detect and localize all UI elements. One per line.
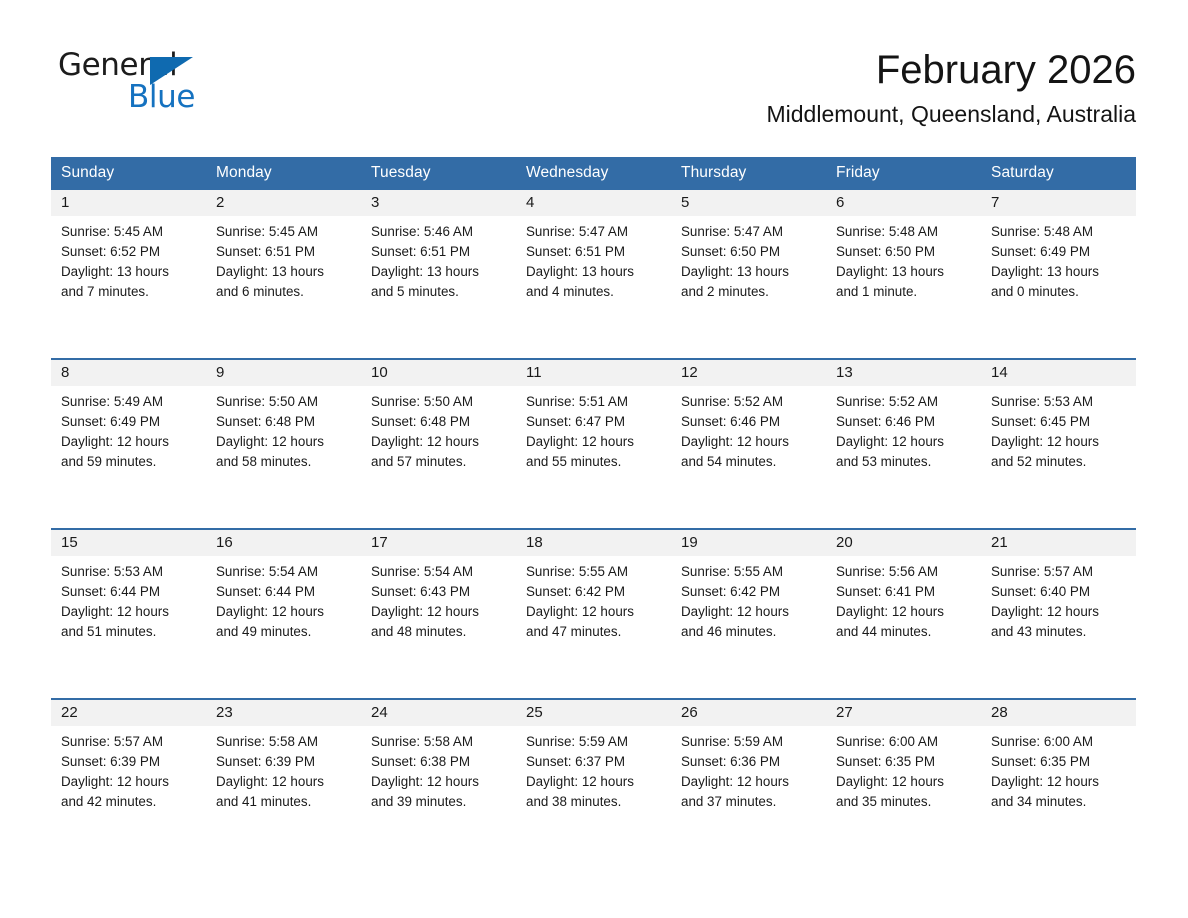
day-number: 23: [206, 700, 361, 726]
daylight-text-line1: Daylight: 12 hours: [836, 602, 973, 622]
day-number: 17: [361, 530, 516, 556]
day-details: Sunrise: 5:47 AM Sunset: 6:51 PM Dayligh…: [516, 216, 671, 358]
daylight-text-line2: and 35 minutes.: [836, 792, 973, 812]
daylight-text-line1: Daylight: 12 hours: [216, 772, 353, 792]
sunrise-text: Sunrise: 5:48 AM: [991, 222, 1128, 242]
day-cell[interactable]: 21 Sunrise: 5:57 AM Sunset: 6:40 PM Dayl…: [981, 529, 1136, 699]
sunset-text: Sunset: 6:39 PM: [61, 752, 198, 772]
day-number: 2: [206, 190, 361, 216]
sunrise-text: Sunrise: 5:51 AM: [526, 392, 663, 412]
sunset-text: Sunset: 6:48 PM: [216, 412, 353, 432]
daylight-text-line1: Daylight: 12 hours: [991, 432, 1128, 452]
sunset-text: Sunset: 6:44 PM: [61, 582, 198, 602]
calendar-body: 1 Sunrise: 5:45 AM Sunset: 6:52 PM Dayli…: [51, 190, 1136, 868]
daylight-text-line2: and 42 minutes.: [61, 792, 198, 812]
day-cell[interactable]: 19 Sunrise: 5:55 AM Sunset: 6:42 PM Dayl…: [671, 529, 826, 699]
day-number: 14: [981, 360, 1136, 386]
sunset-text: Sunset: 6:43 PM: [371, 582, 508, 602]
day-details: Sunrise: 5:49 AM Sunset: 6:49 PM Dayligh…: [51, 386, 206, 528]
day-cell[interactable]: 7 Sunrise: 5:48 AM Sunset: 6:49 PM Dayli…: [981, 190, 1136, 359]
day-cell[interactable]: 24 Sunrise: 5:58 AM Sunset: 6:38 PM Dayl…: [361, 699, 516, 868]
sunrise-text: Sunrise: 5:55 AM: [681, 562, 818, 582]
daylight-text-line1: Daylight: 12 hours: [61, 432, 198, 452]
daylight-text-line2: and 34 minutes.: [991, 792, 1128, 812]
daylight-text-line1: Daylight: 12 hours: [836, 772, 973, 792]
calendar-week-row: 15 Sunrise: 5:53 AM Sunset: 6:44 PM Dayl…: [51, 529, 1136, 699]
sunrise-text: Sunrise: 5:53 AM: [61, 562, 198, 582]
day-number: 25: [516, 700, 671, 726]
sunrise-text: Sunrise: 5:52 AM: [681, 392, 818, 412]
day-number: 19: [671, 530, 826, 556]
day-cell[interactable]: 27 Sunrise: 6:00 AM Sunset: 6:35 PM Dayl…: [826, 699, 981, 868]
day-details: Sunrise: 5:59 AM Sunset: 6:36 PM Dayligh…: [671, 726, 826, 868]
day-number: 3: [361, 190, 516, 216]
calendar-week-row: 22 Sunrise: 5:57 AM Sunset: 6:39 PM Dayl…: [51, 699, 1136, 868]
day-number: 24: [361, 700, 516, 726]
title-block: February 2026 Middlemount, Queensland, A…: [767, 48, 1137, 128]
sunset-text: Sunset: 6:42 PM: [681, 582, 818, 602]
day-cell[interactable]: 1 Sunrise: 5:45 AM Sunset: 6:52 PM Dayli…: [51, 190, 206, 359]
daylight-text-line2: and 57 minutes.: [371, 452, 508, 472]
sunrise-text: Sunrise: 5:57 AM: [61, 732, 198, 752]
daylight-text-line2: and 7 minutes.: [61, 282, 198, 302]
day-cell[interactable]: 17 Sunrise: 5:54 AM Sunset: 6:43 PM Dayl…: [361, 529, 516, 699]
daylight-text-line2: and 53 minutes.: [836, 452, 973, 472]
page-header: General Blue February 2026 Middlemount, …: [0, 0, 1188, 110]
sunset-text: Sunset: 6:47 PM: [526, 412, 663, 432]
daylight-text-line2: and 37 minutes.: [681, 792, 818, 812]
daylight-text-line2: and 2 minutes.: [681, 282, 818, 302]
day-cell[interactable]: 16 Sunrise: 5:54 AM Sunset: 6:44 PM Dayl…: [206, 529, 361, 699]
day-details: Sunrise: 5:57 AM Sunset: 6:40 PM Dayligh…: [981, 556, 1136, 698]
day-cell[interactable]: 20 Sunrise: 5:56 AM Sunset: 6:41 PM Dayl…: [826, 529, 981, 699]
day-cell[interactable]: 9 Sunrise: 5:50 AM Sunset: 6:48 PM Dayli…: [206, 359, 361, 529]
sunset-text: Sunset: 6:48 PM: [371, 412, 508, 432]
calendar-week-row: 1 Sunrise: 5:45 AM Sunset: 6:52 PM Dayli…: [51, 190, 1136, 359]
day-details: Sunrise: 5:53 AM Sunset: 6:44 PM Dayligh…: [51, 556, 206, 698]
day-number: 18: [516, 530, 671, 556]
sunrise-text: Sunrise: 5:47 AM: [526, 222, 663, 242]
daylight-text-line2: and 1 minute.: [836, 282, 973, 302]
sunset-text: Sunset: 6:46 PM: [681, 412, 818, 432]
daylight-text-line2: and 6 minutes.: [216, 282, 353, 302]
calendar-table: Sunday Monday Tuesday Wednesday Thursday…: [51, 157, 1136, 868]
day-details: Sunrise: 5:46 AM Sunset: 6:51 PM Dayligh…: [361, 216, 516, 358]
day-number: 10: [361, 360, 516, 386]
weekday-header-friday: Friday: [826, 157, 981, 190]
daylight-text-line2: and 48 minutes.: [371, 622, 508, 642]
day-details: Sunrise: 5:50 AM Sunset: 6:48 PM Dayligh…: [361, 386, 516, 528]
day-details: Sunrise: 5:48 AM Sunset: 6:49 PM Dayligh…: [981, 216, 1136, 358]
day-cell[interactable]: 15 Sunrise: 5:53 AM Sunset: 6:44 PM Dayl…: [51, 529, 206, 699]
daylight-text-line1: Daylight: 12 hours: [991, 772, 1128, 792]
page-title: February 2026: [767, 48, 1137, 93]
weekday-header-monday: Monday: [206, 157, 361, 190]
day-details: Sunrise: 5:58 AM Sunset: 6:38 PM Dayligh…: [361, 726, 516, 868]
day-cell[interactable]: 12 Sunrise: 5:52 AM Sunset: 6:46 PM Dayl…: [671, 359, 826, 529]
weekday-header-sunday: Sunday: [51, 157, 206, 190]
day-number: 12: [671, 360, 826, 386]
day-number: 5: [671, 190, 826, 216]
daylight-text-line2: and 58 minutes.: [216, 452, 353, 472]
day-details: Sunrise: 5:54 AM Sunset: 6:43 PM Dayligh…: [361, 556, 516, 698]
sunset-text: Sunset: 6:50 PM: [836, 242, 973, 262]
daylight-text-line1: Daylight: 13 hours: [681, 262, 818, 282]
daylight-text-line1: Daylight: 12 hours: [836, 432, 973, 452]
sunset-text: Sunset: 6:51 PM: [526, 242, 663, 262]
page-subtitle: Middlemount, Queensland, Australia: [767, 101, 1137, 129]
sunset-text: Sunset: 6:51 PM: [371, 242, 508, 262]
day-cell[interactable]: 23 Sunrise: 5:58 AM Sunset: 6:39 PM Dayl…: [206, 699, 361, 868]
day-cell[interactable]: 13 Sunrise: 5:52 AM Sunset: 6:46 PM Dayl…: [826, 359, 981, 529]
day-number: 15: [51, 530, 206, 556]
daylight-text-line2: and 51 minutes.: [61, 622, 198, 642]
day-cell[interactable]: 6 Sunrise: 5:48 AM Sunset: 6:50 PM Dayli…: [826, 190, 981, 359]
sunset-text: Sunset: 6:50 PM: [681, 242, 818, 262]
day-details: Sunrise: 5:52 AM Sunset: 6:46 PM Dayligh…: [671, 386, 826, 528]
daylight-text-line1: Daylight: 12 hours: [371, 602, 508, 622]
day-details: Sunrise: 5:45 AM Sunset: 6:52 PM Dayligh…: [51, 216, 206, 358]
logo-text-blue: Blue: [128, 82, 195, 113]
sunrise-text: Sunrise: 5:46 AM: [371, 222, 508, 242]
daylight-text-line2: and 44 minutes.: [836, 622, 973, 642]
sunrise-text: Sunrise: 5:48 AM: [836, 222, 973, 242]
sunset-text: Sunset: 6:49 PM: [991, 242, 1128, 262]
sunset-text: Sunset: 6:35 PM: [991, 752, 1128, 772]
daylight-text-line1: Daylight: 13 hours: [371, 262, 508, 282]
day-cell[interactable]: 8 Sunrise: 5:49 AM Sunset: 6:49 PM Dayli…: [51, 359, 206, 529]
sunset-text: Sunset: 6:49 PM: [61, 412, 198, 432]
day-number: 27: [826, 700, 981, 726]
daylight-text-line2: and 4 minutes.: [526, 282, 663, 302]
sunset-text: Sunset: 6:52 PM: [61, 242, 198, 262]
daylight-text-line2: and 0 minutes.: [991, 282, 1128, 302]
day-details: Sunrise: 5:50 AM Sunset: 6:48 PM Dayligh…: [206, 386, 361, 528]
sunset-text: Sunset: 6:51 PM: [216, 242, 353, 262]
daylight-text-line1: Daylight: 12 hours: [61, 772, 198, 792]
day-details: Sunrise: 5:52 AM Sunset: 6:46 PM Dayligh…: [826, 386, 981, 528]
sunset-text: Sunset: 6:37 PM: [526, 752, 663, 772]
daylight-text-line2: and 49 minutes.: [216, 622, 353, 642]
day-cell[interactable]: 4 Sunrise: 5:47 AM Sunset: 6:51 PM Dayli…: [516, 190, 671, 359]
day-number: 9: [206, 360, 361, 386]
sunrise-text: Sunrise: 5:49 AM: [61, 392, 198, 412]
sunset-text: Sunset: 6:44 PM: [216, 582, 353, 602]
sunrise-text: Sunrise: 6:00 AM: [836, 732, 973, 752]
daylight-text-line2: and 41 minutes.: [216, 792, 353, 812]
daylight-text-line2: and 39 minutes.: [371, 792, 508, 812]
daylight-text-line1: Daylight: 13 hours: [216, 262, 353, 282]
weekday-header-wednesday: Wednesday: [516, 157, 671, 190]
daylight-text-line1: Daylight: 12 hours: [216, 602, 353, 622]
sunrise-text: Sunrise: 5:56 AM: [836, 562, 973, 582]
day-details: Sunrise: 5:56 AM Sunset: 6:41 PM Dayligh…: [826, 556, 981, 698]
day-details: Sunrise: 5:47 AM Sunset: 6:50 PM Dayligh…: [671, 216, 826, 358]
sunrise-text: Sunrise: 5:53 AM: [991, 392, 1128, 412]
day-cell[interactable]: 2 Sunrise: 5:45 AM Sunset: 6:51 PM Dayli…: [206, 190, 361, 359]
sunset-text: Sunset: 6:39 PM: [216, 752, 353, 772]
calendar-grid: Sunday Monday Tuesday Wednesday Thursday…: [51, 157, 1136, 868]
sunrise-text: Sunrise: 5:58 AM: [216, 732, 353, 752]
daylight-text-line2: and 59 minutes.: [61, 452, 198, 472]
day-number: 4: [516, 190, 671, 216]
sunset-text: Sunset: 6:40 PM: [991, 582, 1128, 602]
daylight-text-line2: and 38 minutes.: [526, 792, 663, 812]
day-cell[interactable]: 26 Sunrise: 5:59 AM Sunset: 6:36 PM Dayl…: [671, 699, 826, 868]
day-number: 26: [671, 700, 826, 726]
day-details: Sunrise: 5:45 AM Sunset: 6:51 PM Dayligh…: [206, 216, 361, 358]
day-cell[interactable]: 18 Sunrise: 5:55 AM Sunset: 6:42 PM Dayl…: [516, 529, 671, 699]
sunset-text: Sunset: 6:35 PM: [836, 752, 973, 772]
day-cell[interactable]: 25 Sunrise: 5:59 AM Sunset: 6:37 PM Dayl…: [516, 699, 671, 868]
day-number: 21: [981, 530, 1136, 556]
daylight-text-line2: and 54 minutes.: [681, 452, 818, 472]
daylight-text-line1: Daylight: 12 hours: [526, 772, 663, 792]
generalblue-logo[interactable]: General Blue: [58, 50, 238, 125]
day-cell[interactable]: 3 Sunrise: 5:46 AM Sunset: 6:51 PM Dayli…: [361, 190, 516, 359]
day-number: 16: [206, 530, 361, 556]
day-cell[interactable]: 10 Sunrise: 5:50 AM Sunset: 6:48 PM Dayl…: [361, 359, 516, 529]
day-details: Sunrise: 5:48 AM Sunset: 6:50 PM Dayligh…: [826, 216, 981, 358]
day-details: Sunrise: 6:00 AM Sunset: 6:35 PM Dayligh…: [981, 726, 1136, 868]
day-number: 8: [51, 360, 206, 386]
sunset-text: Sunset: 6:45 PM: [991, 412, 1128, 432]
sunrise-text: Sunrise: 5:45 AM: [61, 222, 198, 242]
daylight-text-line1: Daylight: 13 hours: [61, 262, 198, 282]
day-number: 13: [826, 360, 981, 386]
day-number: 6: [826, 190, 981, 216]
daylight-text-line1: Daylight: 13 hours: [991, 262, 1128, 282]
day-cell[interactable]: 28 Sunrise: 6:00 AM Sunset: 6:35 PM Dayl…: [981, 699, 1136, 868]
sunset-text: Sunset: 6:36 PM: [681, 752, 818, 772]
daylight-text-line1: Daylight: 12 hours: [681, 432, 818, 452]
sunset-text: Sunset: 6:38 PM: [371, 752, 508, 772]
daylight-text-line2: and 47 minutes.: [526, 622, 663, 642]
daylight-text-line2: and 52 minutes.: [991, 452, 1128, 472]
day-details: Sunrise: 5:55 AM Sunset: 6:42 PM Dayligh…: [671, 556, 826, 698]
sunset-text: Sunset: 6:41 PM: [836, 582, 973, 602]
daylight-text-line2: and 5 minutes.: [371, 282, 508, 302]
day-details: Sunrise: 6:00 AM Sunset: 6:35 PM Dayligh…: [826, 726, 981, 868]
sunset-text: Sunset: 6:46 PM: [836, 412, 973, 432]
sunrise-text: Sunrise: 5:50 AM: [216, 392, 353, 412]
daylight-text-line2: and 46 minutes.: [681, 622, 818, 642]
sunrise-text: Sunrise: 5:45 AM: [216, 222, 353, 242]
sunrise-text: Sunrise: 5:54 AM: [216, 562, 353, 582]
daylight-text-line1: Daylight: 12 hours: [216, 432, 353, 452]
day-details: Sunrise: 5:54 AM Sunset: 6:44 PM Dayligh…: [206, 556, 361, 698]
day-number: 11: [516, 360, 671, 386]
daylight-text-line1: Daylight: 12 hours: [681, 602, 818, 622]
sunrise-text: Sunrise: 5:47 AM: [681, 222, 818, 242]
day-number: 22: [51, 700, 206, 726]
day-cell[interactable]: 11 Sunrise: 5:51 AM Sunset: 6:47 PM Dayl…: [516, 359, 671, 529]
calendar-header-row: Sunday Monday Tuesday Wednesday Thursday…: [51, 157, 1136, 190]
daylight-text-line1: Daylight: 12 hours: [526, 602, 663, 622]
sunrise-text: Sunrise: 6:00 AM: [991, 732, 1128, 752]
calendar-page: General Blue February 2026 Middlemount, …: [0, 0, 1188, 918]
daylight-text-line1: Daylight: 12 hours: [61, 602, 198, 622]
weekday-header-saturday: Saturday: [981, 157, 1136, 190]
sunset-text: Sunset: 6:42 PM: [526, 582, 663, 602]
day-cell[interactable]: 14 Sunrise: 5:53 AM Sunset: 6:45 PM Dayl…: [981, 359, 1136, 529]
daylight-text-line1: Daylight: 12 hours: [991, 602, 1128, 622]
day-details: Sunrise: 5:58 AM Sunset: 6:39 PM Dayligh…: [206, 726, 361, 868]
sunrise-text: Sunrise: 5:52 AM: [836, 392, 973, 412]
calendar-week-row: 8 Sunrise: 5:49 AM Sunset: 6:49 PM Dayli…: [51, 359, 1136, 529]
daylight-text-line2: and 55 minutes.: [526, 452, 663, 472]
daylight-text-line1: Daylight: 13 hours: [526, 262, 663, 282]
daylight-text-line1: Daylight: 13 hours: [836, 262, 973, 282]
daylight-text-line1: Daylight: 12 hours: [526, 432, 663, 452]
day-cell[interactable]: 22 Sunrise: 5:57 AM Sunset: 6:39 PM Dayl…: [51, 699, 206, 868]
day-details: Sunrise: 5:51 AM Sunset: 6:47 PM Dayligh…: [516, 386, 671, 528]
day-details: Sunrise: 5:53 AM Sunset: 6:45 PM Dayligh…: [981, 386, 1136, 528]
day-number: 7: [981, 190, 1136, 216]
daylight-text-line1: Daylight: 12 hours: [371, 772, 508, 792]
weekday-header-tuesday: Tuesday: [361, 157, 516, 190]
daylight-text-line1: Daylight: 12 hours: [681, 772, 818, 792]
day-number: 28: [981, 700, 1136, 726]
sunrise-text: Sunrise: 5:59 AM: [526, 732, 663, 752]
sunrise-text: Sunrise: 5:58 AM: [371, 732, 508, 752]
weekday-header-thursday: Thursday: [671, 157, 826, 190]
sunrise-text: Sunrise: 5:55 AM: [526, 562, 663, 582]
day-details: Sunrise: 5:57 AM Sunset: 6:39 PM Dayligh…: [51, 726, 206, 868]
sunrise-text: Sunrise: 5:59 AM: [681, 732, 818, 752]
day-details: Sunrise: 5:55 AM Sunset: 6:42 PM Dayligh…: [516, 556, 671, 698]
daylight-text-line1: Daylight: 12 hours: [371, 432, 508, 452]
sunrise-text: Sunrise: 5:57 AM: [991, 562, 1128, 582]
day-cell[interactable]: 5 Sunrise: 5:47 AM Sunset: 6:50 PM Dayli…: [671, 190, 826, 359]
sunrise-text: Sunrise: 5:54 AM: [371, 562, 508, 582]
day-number: 20: [826, 530, 981, 556]
day-details: Sunrise: 5:59 AM Sunset: 6:37 PM Dayligh…: [516, 726, 671, 868]
daylight-text-line2: and 43 minutes.: [991, 622, 1128, 642]
sunrise-text: Sunrise: 5:50 AM: [371, 392, 508, 412]
day-number: 1: [51, 190, 206, 216]
